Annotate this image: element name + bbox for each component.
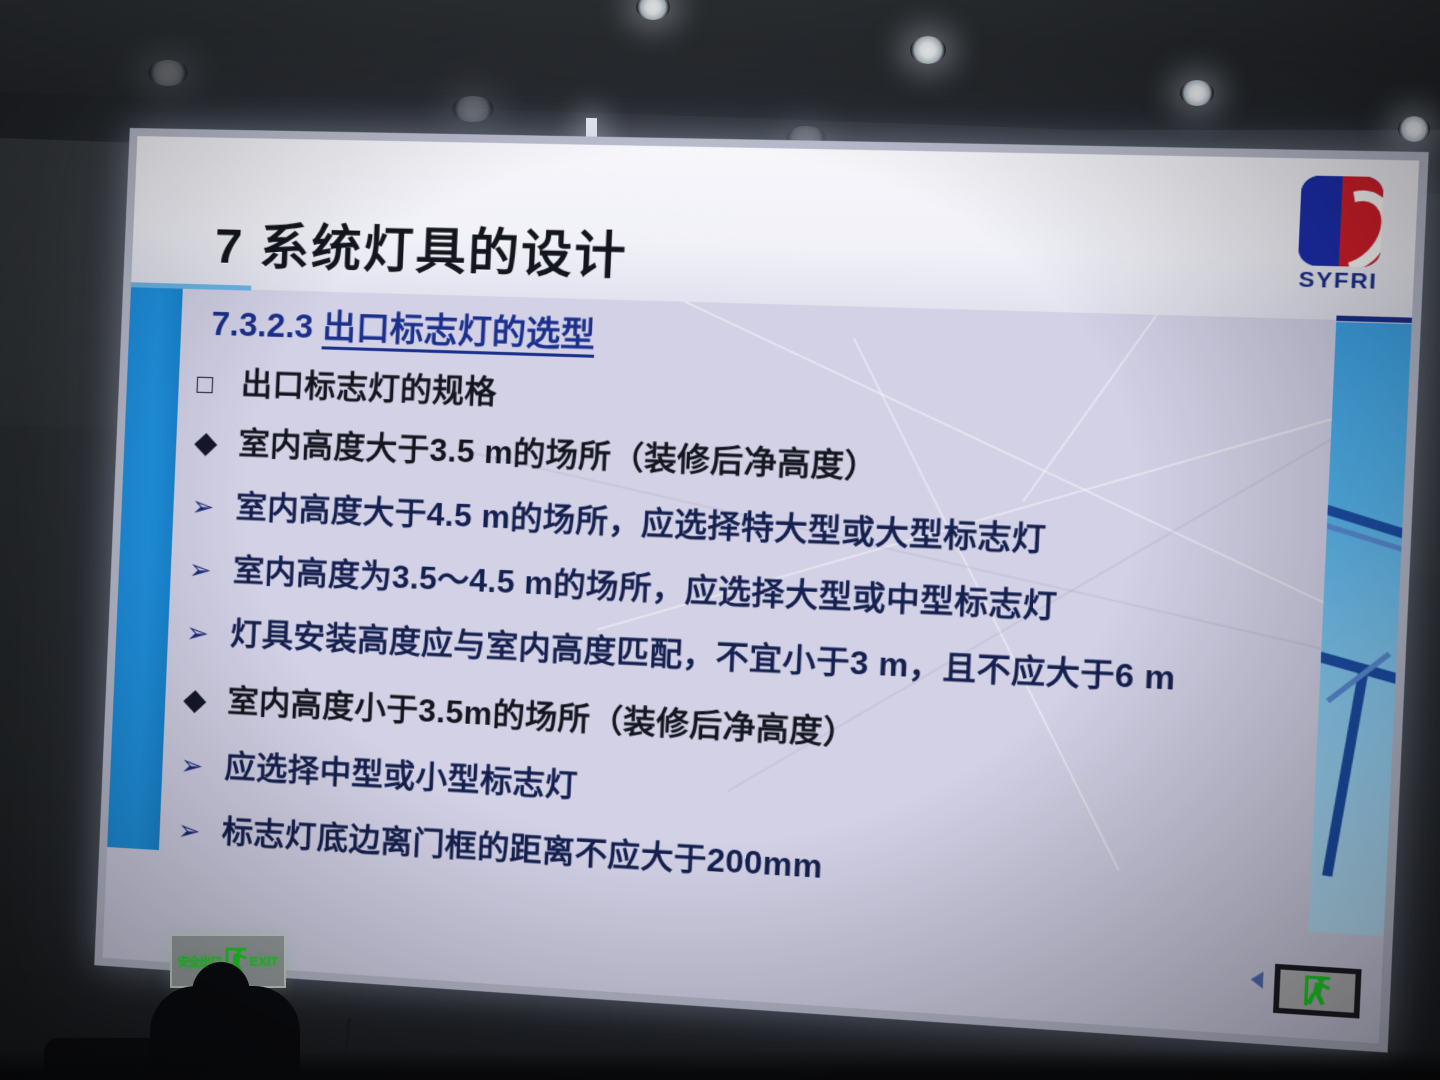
exit-sign-graphic (1273, 964, 1362, 1019)
arrow-bullet: ➢ (177, 817, 222, 847)
solid-diamond-bullet: ◆ (194, 428, 239, 460)
running-man-icon (1304, 975, 1330, 1007)
solid-diamond-bullet: ◆ (183, 685, 228, 717)
arrow-bullet: ➢ (188, 556, 233, 585)
bullet-text: 室内高度小于3.5m的场所（装修后净高度） (227, 675, 858, 754)
arrow-bullet: ➢ (180, 752, 225, 782)
projection-screen[interactable]: 7 系统灯具的设计 SYFRI (94, 128, 1429, 1053)
downlight-icon (1398, 116, 1430, 142)
slide-canvas: 7 系统灯具的设计 SYFRI (103, 136, 1420, 1043)
subtitle-text: 出口标志灯的选型 (322, 308, 596, 358)
hollow-square-bullet: □ (196, 371, 241, 400)
photo-scene: 7 系统灯具的设计 SYFRI (0, 0, 1440, 1080)
downlight-reflection-icon (452, 96, 494, 122)
foreground-shadow (0, 1050, 1440, 1080)
slide-subtitle: 7.3.2.3 出口标志灯的选型 (211, 297, 597, 357)
bullet-text: 出口标志灯的规格 (240, 358, 498, 412)
logo-text: SYFRI (1278, 267, 1398, 296)
bullet-list: □出口标志灯的规格◆室内高度大于3.5 m的场所（装修后净高度）➢室内高度大于4… (177, 357, 1272, 913)
bullet-text: 应选择中型或小型标志灯 (224, 740, 579, 805)
page-title: 7 系统灯具的设计 (213, 206, 629, 289)
syfri-logo: SYFRI (1278, 175, 1402, 304)
previous-slide-arrow-icon[interactable] (1250, 971, 1263, 989)
downlight-reflection-icon (148, 60, 188, 86)
downlight-icon (1180, 80, 1214, 106)
downlight-icon (910, 36, 946, 64)
subtitle-number: 7.3.2.3 (211, 305, 314, 345)
bullet-text: 室内高度大于4.5 m的场所，应选择特大型或大型标志灯 (235, 481, 1047, 560)
arrow-bullet: ➢ (191, 493, 236, 522)
arrow-bullet: ➢ (186, 620, 231, 649)
bullet-text: 标志灯底边离门框的距离不应大于200mm (221, 806, 824, 888)
exit-sign-face (1279, 969, 1356, 1012)
bullet-text: 室内高度大于3.5 m的场所（装修后净高度） (238, 417, 880, 487)
exit-sign-english-text: EXIT (250, 954, 279, 969)
logo-mark-icon (1298, 175, 1384, 267)
